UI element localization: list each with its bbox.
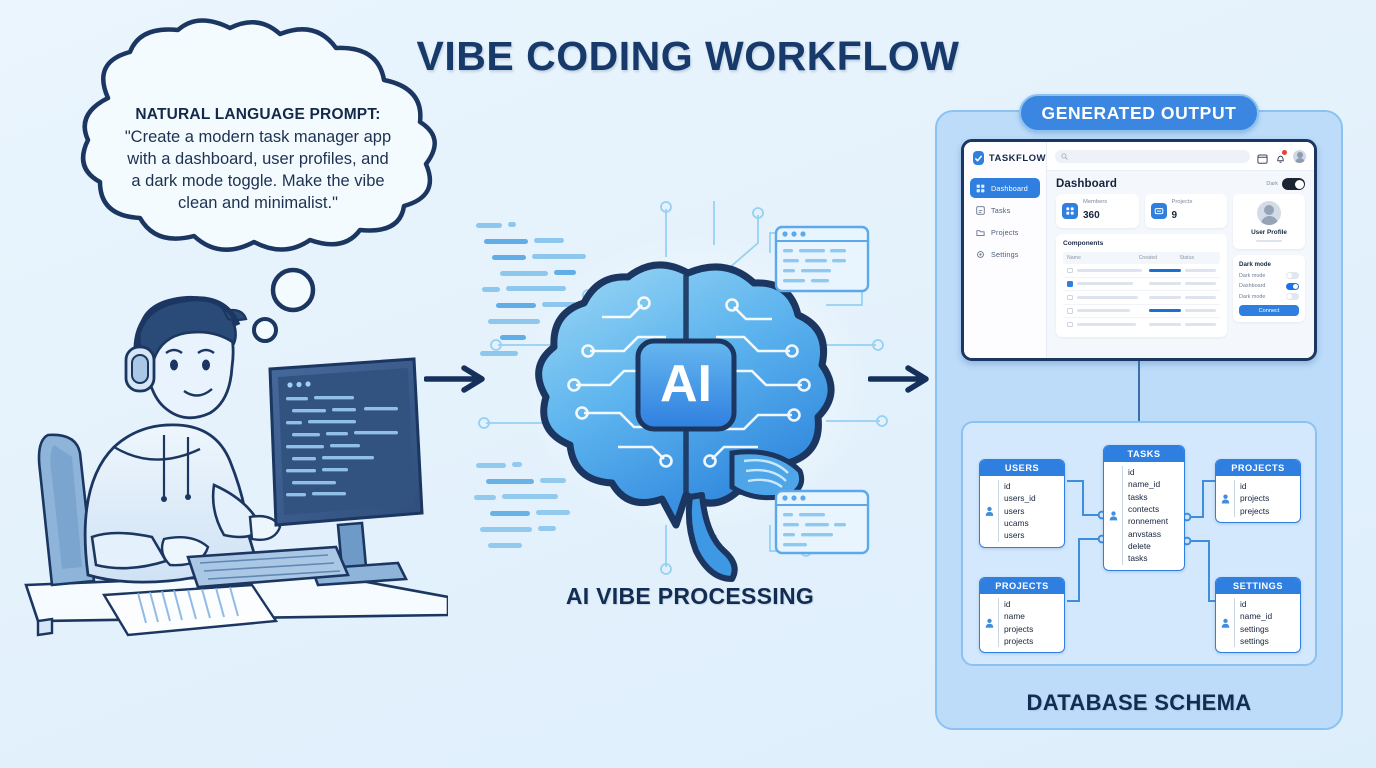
table-row[interactable] [1063,291,1220,305]
settings-toggle[interactable] [1286,272,1299,279]
schema-field: id [1128,466,1168,478]
mockup-sidebar: TASKFLOW Dashboard [964,142,1047,358]
schema-field: name [1004,610,1033,622]
key-user-icon [1221,480,1230,517]
mockup-page-header: Dashboard Dark [1047,171,1314,194]
schema-field: users_id [1004,492,1036,504]
box-icon [1151,203,1167,219]
mockup-topbar [1047,142,1314,171]
row-checkbox[interactable] [1067,268,1073,274]
sidebar-label-tasks: Tasks [991,206,1010,215]
generated-output-badge: GENERATED OUTPUT [1019,94,1259,132]
table-row[interactable] [1063,305,1220,319]
schema-field: projects [1004,623,1033,635]
mockup-page-title: Dashboard [1056,178,1117,190]
schema-field: users [1004,505,1036,517]
ai-chip-badge: AI [638,341,734,429]
schema-field: projects [1004,635,1033,647]
row-checkbox[interactable] [1067,308,1073,314]
sidebar-item-tasks[interactable]: Tasks [970,200,1040,220]
settings-row[interactable]: Dashboard [1239,283,1299,290]
settings-label: Dark mode [1239,273,1265,279]
profile-avatar [1257,201,1281,225]
schema-field: contects [1128,503,1168,515]
paper-notes [104,585,276,635]
ai-processing-label: AI VIBE PROCESSING [455,583,925,610]
ai-brain-graphic: AI [470,195,910,595]
table-row[interactable] [1063,264,1220,278]
row-checkbox[interactable] [1067,295,1073,301]
search-icon [1061,153,1068,160]
settings-label: Dark mode [1239,294,1265,300]
user-profile-card: User Profile [1233,194,1305,249]
schema-field: id [1240,598,1272,610]
prompt-line-4: clean and minimalist." [90,193,426,215]
row-checkbox[interactable] [1067,281,1073,287]
schema-table-title: SETTINGS [1216,578,1300,594]
key-user-icon [985,598,994,647]
schema-field: id [1004,480,1036,492]
stat-card-projects: Projects 9 [1145,194,1228,228]
arrow-ai-to-output [868,362,940,396]
stat-cards: Members 360 [1056,194,1227,228]
schema-field: settings [1240,635,1272,647]
users-icon [1062,203,1078,219]
row-checkbox[interactable] [1067,322,1073,328]
folder-icon [976,228,985,237]
settings-card: Dark mode Dark mode Dashboard Dark mode [1233,255,1305,322]
prompt-line-3: a dark mode toggle. Make the vibe [90,171,426,193]
components-table-card: Components Name Created Status [1056,234,1227,337]
table-row[interactable] [1063,278,1220,292]
schema-table-projects-right: PROJECTS id projects prejects [1215,459,1301,523]
checkmark-icon [973,151,984,165]
mockup-content: Members 360 [1047,194,1314,337]
profile-divider [1256,240,1282,242]
settings-row[interactable]: Dark mode [1239,293,1299,300]
table-header: Name Created Status [1063,252,1220,264]
prompt-line-2: with a dashboard, user profiles, and [90,149,426,171]
database-schema-label: DATABASE SCHEMA [935,690,1343,716]
prompt-line-1: "Create a modern task manager app [90,127,426,149]
column-header-name: Name [1067,255,1135,261]
dark-mode-label: Dark [1266,181,1278,187]
sidebar-label-settings: Settings [991,250,1019,259]
prompt-heading: NATURAL LANGUAGE PROMPT: [90,106,426,124]
schema-field: id [1004,598,1033,610]
schema-table-title: PROJECTS [980,578,1064,594]
developer-head [126,297,246,418]
stat-value-projects: 9 [1172,210,1178,221]
schema-field: delete [1128,540,1168,552]
schema-table-settings: SETTINGS id name_id settings settings [1215,577,1301,653]
schema-field: users [1004,529,1036,541]
infographic-canvas: VIBE CODING WORKFLOW NATURAL LANGUAGE PR… [0,0,1376,768]
profile-name: User Profile [1239,229,1299,236]
schema-field: ronnement [1128,515,1168,527]
table-row[interactable] [1063,318,1220,331]
settings-label: Dashboard [1239,283,1265,289]
schema-table-title: TASKS [1104,446,1184,462]
settings-toggle[interactable] [1286,293,1299,300]
settings-row[interactable]: Dark mode [1239,272,1299,279]
notification-badge [1282,150,1287,155]
schema-field: name_id [1240,610,1272,622]
stat-value-members: 360 [1083,210,1100,221]
stat-label-members: Members [1083,199,1107,205]
calendar-icon[interactable] [1257,151,1268,162]
settings-title: Dark mode [1239,261,1299,268]
dark-mode-toggle[interactable] [1282,178,1305,190]
settings-toggle[interactable] [1286,283,1299,290]
app-name: TASKFLOW [989,153,1046,164]
schema-table-projects-left: PROJECTS id name projects projects [979,577,1065,653]
sidebar-label-dashboard: Dashboard [991,184,1028,193]
schema-field: ucams [1004,517,1036,529]
key-user-icon [1109,466,1118,565]
schema-field: settings [1240,623,1272,635]
schema-field: name_id [1128,478,1168,490]
browser-window-bottom [776,491,868,553]
stat-card-members: Members 360 [1056,194,1139,228]
schema-table-title: PROJECTS [1216,460,1300,476]
schema-table-title: USERS [980,460,1064,476]
column-header-created: Created [1139,255,1176,261]
sidebar-item-settings[interactable]: Settings [970,244,1040,264]
sidebar-item-dashboard[interactable]: Dashboard [970,178,1040,198]
bell-icon[interactable] [1275,151,1286,162]
developer-illustration [18,285,448,650]
connect-button[interactable]: Connect [1239,305,1299,316]
mockup-main: Dashboard Dark [1047,142,1314,358]
key-user-icon [1221,598,1230,647]
list-icon [976,206,985,215]
app-logo: TASKFLOW [964,142,1046,165]
grid-icon [976,184,985,193]
schema-field: id [1240,480,1269,492]
avatar[interactable] [1293,150,1306,163]
stat-label-projects: Projects [1172,199,1193,205]
browser-window-top [776,227,868,291]
thought-bubble: NATURAL LANGUAGE PROMPT: "Create a moder… [48,18,468,278]
gear-icon [976,250,985,259]
search-input[interactable] [1055,150,1250,163]
key-user-icon [985,480,994,542]
schema-table-tasks: TASKS id name_id tasks contects ronnemen… [1103,445,1185,571]
mockup-schema-connector [1138,361,1140,421]
column-header-status: Status [1179,255,1216,261]
schema-field: projects [1240,492,1269,504]
schema-field: tasks [1128,491,1168,503]
schema-field: anvstass [1128,528,1168,540]
schema-table-users: USERS id users_id users ucams users [979,459,1065,548]
dashboard-mockup: TASKFLOW Dashboard [961,139,1317,361]
schema-field: tasks [1128,552,1168,564]
sidebar-label-projects: Projects [991,228,1019,237]
sidebar-item-projects[interactable]: Projects [970,222,1040,242]
prompt-text: NATURAL LANGUAGE PROMPT: "Create a moder… [90,106,426,215]
schema-field: prejects [1240,505,1269,517]
ai-chip-label: AI [660,355,712,413]
components-table-title: Components [1063,240,1220,247]
